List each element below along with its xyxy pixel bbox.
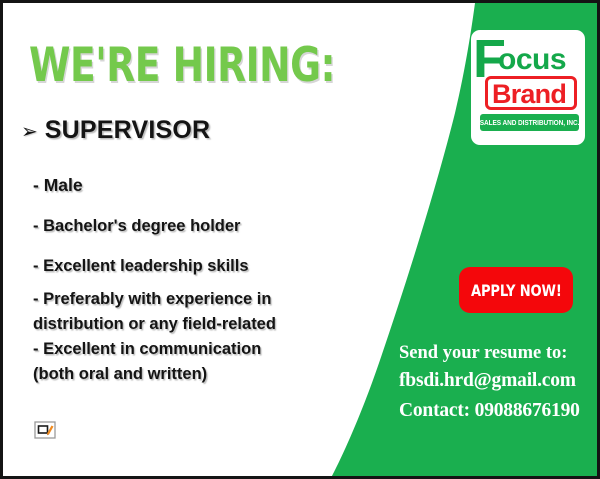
apply-now-label: APPLY NOW! — [471, 282, 562, 299]
logo-word-focus: ocus — [498, 44, 566, 75]
contact-email[interactable]: fbsdi.hrd@gmail.com — [399, 366, 599, 396]
list-item: - Excellent leadership skills — [33, 257, 353, 276]
contact-heading: Send your resume to: — [399, 341, 599, 366]
logo-tagline: SALES AND DISTRIBUTION, INC. — [480, 119, 580, 127]
requirements-list: - Male - Bachelor's degree holder - Exce… — [33, 175, 353, 384]
job-title-row: ➢ SUPERVISOR — [21, 117, 210, 144]
list-item: distribution or any field-related — [33, 315, 353, 334]
list-item: - Excellent in communication — [33, 340, 353, 359]
list-item: - Preferably with experience in — [33, 290, 353, 309]
apply-now-button[interactable]: APPLY NOW! — [459, 267, 573, 313]
document-edit-icon — [34, 420, 56, 439]
job-title: SUPERVISOR — [45, 117, 210, 144]
logo-tagline-bar: SALES AND DISTRIBUTION, INC. — [480, 114, 579, 131]
company-logo: F ocus Brand SALES AND DISTRIBUTION, INC… — [471, 30, 585, 145]
list-item: (both oral and written) — [33, 365, 353, 384]
hiring-poster: WE'RE HIRING: ➢ SUPERVISOR - Male - Bach… — [0, 0, 600, 479]
logo-word-brand: Brand — [492, 77, 566, 111]
contact-block: Send your resume to: fbsdi.hrd@gmail.com… — [399, 341, 599, 426]
list-item: - Male — [33, 175, 353, 196]
contact-phone[interactable]: Contact: 09088676190 — [399, 396, 599, 426]
logo-brand-box: Brand — [485, 76, 577, 110]
page-title: WE'RE HIRING: — [29, 41, 335, 91]
arrow-bullet-icon: ➢ — [21, 121, 38, 141]
list-item: - Bachelor's degree holder — [33, 217, 353, 236]
